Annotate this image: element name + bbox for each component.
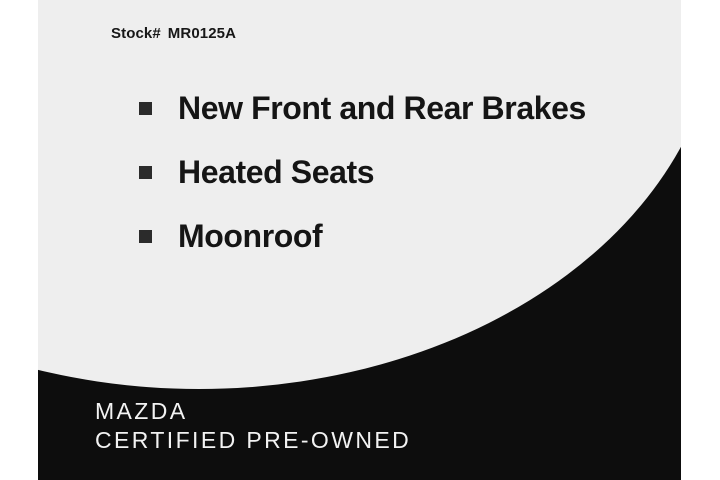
brand-wordmark: MAZDA bbox=[95, 397, 411, 425]
feature-label: New Front and Rear Brakes bbox=[178, 92, 586, 124]
stock-number-label: Stock# bbox=[111, 25, 161, 42]
program-wordmark: CERTIFIED PRE-OWNED bbox=[95, 426, 411, 454]
feature-card: Stock#MR0125A New Front and Rear Brakes … bbox=[38, 0, 681, 480]
feature-list: New Front and Rear Brakes Heated Seats M… bbox=[139, 76, 586, 268]
feature-label: Moonroof bbox=[178, 220, 322, 252]
square-bullet-icon bbox=[139, 102, 152, 115]
certified-pre-owned-badge: MAZDA CERTIFIED PRE-OWNED bbox=[95, 397, 411, 454]
square-bullet-icon bbox=[139, 166, 152, 179]
list-item: New Front and Rear Brakes bbox=[139, 76, 586, 140]
stock-number-value: MR0125A bbox=[168, 25, 236, 42]
list-item: Heated Seats bbox=[139, 140, 586, 204]
stock-number: Stock#MR0125A bbox=[111, 25, 236, 42]
square-bullet-icon bbox=[139, 230, 152, 243]
vehicle-feature-card-canvas: Stock#MR0125A New Front and Rear Brakes … bbox=[0, 0, 720, 480]
feature-label: Heated Seats bbox=[178, 156, 374, 188]
list-item: Moonroof bbox=[139, 204, 586, 268]
